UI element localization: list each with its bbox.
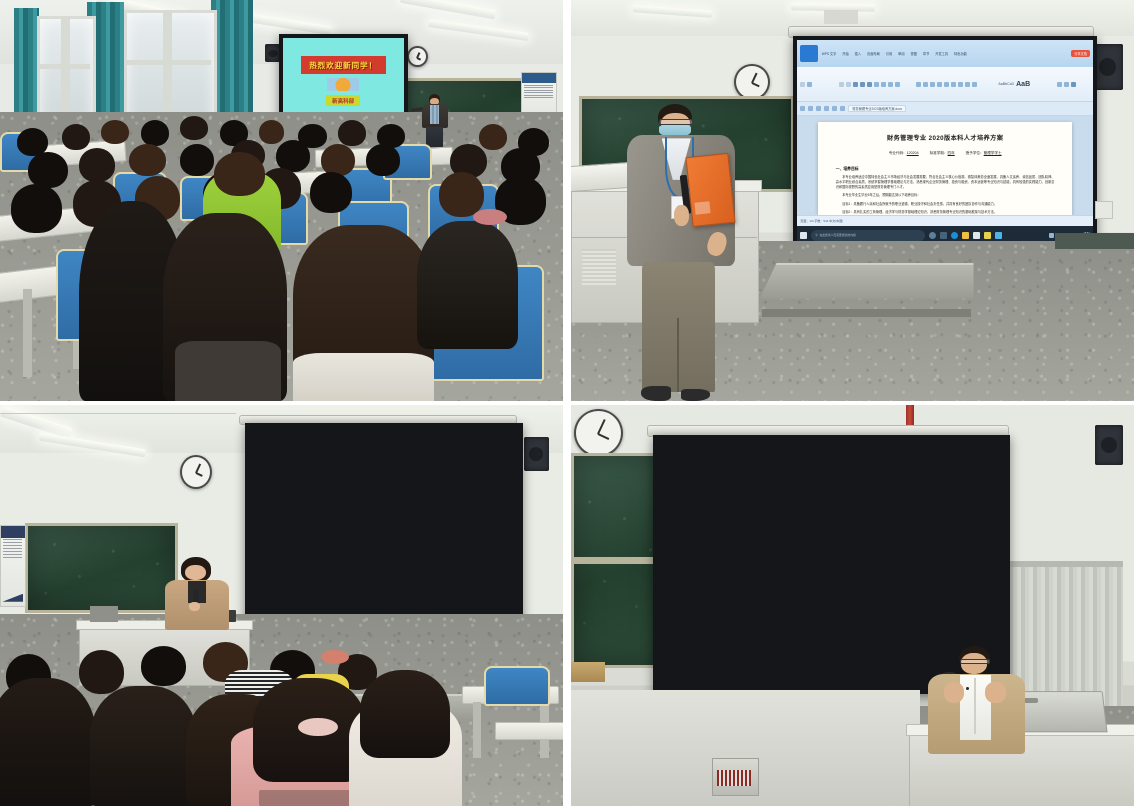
student-foreground-b: [90, 686, 197, 806]
wall-socket: [1095, 201, 1114, 219]
ribbon-tab-view[interactable]: 视图: [909, 51, 919, 56]
wall-speaker: [524, 437, 549, 471]
curtain-rail: [993, 561, 1122, 567]
desk-leg-right-a: [473, 702, 481, 758]
student-head: [180, 144, 214, 176]
student-head: [338, 120, 366, 146]
projection-screen: WPS 文字 开始 插入 页面布局 引用 审阅 视图 章节 开发工具 特色功能 …: [793, 36, 1097, 249]
font-name-box[interactable]: [839, 82, 844, 87]
wall-clock: [734, 64, 770, 100]
ribbon-tab-features[interactable]: 特色功能: [952, 51, 969, 56]
bold-icon[interactable]: [853, 82, 858, 87]
format-brush-icon[interactable]: [807, 82, 812, 87]
field-duration: 标准学制：四年: [930, 151, 955, 156]
desk-right-b: [495, 722, 563, 740]
lecturer-shirt-placket: [974, 678, 976, 734]
underline-icon[interactable]: [867, 82, 872, 87]
student-head: [479, 124, 507, 150]
wall-speaker: [1095, 425, 1123, 465]
projection-screen: 市场营销学 古老 年轻 100年的学科历史 几千年的经验总结: [245, 423, 523, 632]
status-text: 页面：1/4 字数：544 中文(中国): [800, 219, 843, 223]
lecturer: [419, 94, 450, 150]
panel-welcome-assembly: 热烈欢迎新同学！ 新高科部: [0, 0, 563, 401]
student-head: [28, 152, 67, 188]
wps-status-bar: 页面：1/4 字数：544 中文(中国): [797, 215, 1093, 226]
select-icon[interactable]: [1064, 82, 1069, 87]
wps-app-name: WPS 文字: [820, 51, 839, 56]
podium-equipment: [90, 606, 118, 622]
ribbon-group-clipboard: [800, 69, 812, 98]
photo-collage: 热烈欢迎新同学！ 新高科部: [0, 0, 1134, 807]
field-degree: 授予学位：管理学学士: [966, 151, 1002, 156]
superscript-icon[interactable]: [881, 82, 886, 87]
undo-icon[interactable]: [832, 106, 837, 111]
lecturer-hand-right: [985, 682, 1005, 703]
task-view-icon[interactable]: [940, 232, 947, 239]
save-icon[interactable]: [816, 106, 821, 111]
student-foreground-e-hair: [360, 670, 450, 758]
redo-icon[interactable]: [840, 106, 845, 111]
cortana-icon[interactable]: [929, 232, 936, 239]
ribbon-group-editing: [1057, 69, 1076, 98]
document-section-heading: 一、培养目标: [836, 167, 1055, 172]
highlight-icon[interactable]: [888, 82, 893, 87]
student-head: [101, 120, 129, 144]
student-hairband: [473, 209, 507, 225]
document-paragraph: 目标2：具有扎实的工商管理、经济学与财务学基础理论知识，熟悉财务管理专业知识的基…: [836, 210, 1055, 215]
mail-icon[interactable]: [973, 232, 980, 239]
student-foreground-a: [0, 678, 96, 806]
panel-marketing-lecture: 市场营销学 古老 年轻 100年的学科历史 几千年的经验总结: [0, 405, 563, 806]
document-field-row: 专业代码：120204 标准学制：四年 授予学位：管理学学士: [836, 151, 1055, 156]
share-document-button[interactable]: 分享文档: [1071, 50, 1090, 57]
ribbon-tab-start[interactable]: 开始: [840, 51, 850, 56]
lecturer-hand-left: [944, 682, 964, 703]
lecturer: [926, 646, 1027, 754]
document-title: 财务管理专业 2020版本科人才培养方案: [836, 133, 1055, 142]
line-spacing-icon[interactable]: [965, 82, 970, 87]
chalk-marks: [28, 526, 174, 610]
wps-ribbon: AaBbCcD AaB: [797, 67, 1093, 103]
student-foreground-center-shirt: [175, 341, 282, 401]
glasses-icon: [960, 659, 990, 664]
align-right-icon[interactable]: [958, 82, 963, 87]
borders-icon[interactable]: [972, 82, 977, 87]
student-head: [62, 124, 90, 150]
find-replace-icon[interactable]: [1057, 82, 1062, 87]
window-bar-right: [163, 10, 172, 122]
student-head: [79, 650, 124, 694]
trouser-split: [677, 318, 679, 392]
font-color-icon[interactable]: [895, 82, 900, 87]
ribbon-tab-reference[interactable]: 引用: [884, 51, 894, 56]
numbered-list-icon[interactable]: [923, 82, 928, 87]
wall-clock: [574, 409, 623, 457]
electrical-box-label: [717, 770, 751, 786]
align-left-icon[interactable]: [944, 82, 949, 87]
chalkboard: [25, 523, 177, 613]
handshake-icon: [327, 78, 358, 92]
indent-decrease-icon[interactable]: [930, 82, 935, 87]
open-file-tab[interactable]: 财务管理专业2020版培养方案.docx: [848, 105, 906, 112]
taskbar-search-input[interactable]: ⚲ 在此搜索人员需要搜索的内容: [811, 230, 925, 241]
start-button-icon[interactable]: [800, 232, 807, 239]
search-icon[interactable]: [1071, 82, 1076, 87]
wall-baseboard-right: [1055, 233, 1134, 249]
wps-office-window: WPS 文字 开始 插入 页面布局 引用 审阅 视图 章节 开发工具 特色功能 …: [797, 40, 1093, 245]
ribbon-tab-devtools[interactable]: 开发工具: [933, 51, 950, 56]
student-hair-scrunchie: [298, 718, 337, 736]
paste-icon[interactable]: [800, 82, 805, 87]
font-size-box[interactable]: [846, 82, 851, 87]
new-doc-icon[interactable]: [800, 106, 805, 111]
wps-file-tab-bar: 财务管理专业2020版培养方案.docx: [797, 102, 1093, 115]
lecturer-shoe-left: [641, 386, 670, 401]
student-hairband-red: [321, 650, 349, 664]
document-paragraph: 目标1：具备履行人民和社会所赋予的职业道德、职业操守和社会责任感，并具有良好的团…: [836, 202, 1055, 207]
window-curtain-right: [211, 0, 253, 124]
indent-increase-icon[interactable]: [937, 82, 942, 87]
slide-sub-text: 新高科部: [326, 95, 360, 107]
slide-banner-text: 热烈欢迎新同学！: [301, 56, 386, 74]
document-page: 财务管理专业 2020版本科人才培养方案 专业代码：120204 标准学制：四年…: [818, 122, 1072, 215]
panel-curriculum-plan: WPS 文字 开始 插入 页面布局 引用 审阅 视图 章节 开发工具 特色功能 …: [571, 0, 1134, 401]
style-normal-label[interactable]: AaBbCcD: [998, 82, 1014, 86]
ribbon-group-styles: AaBbCcD AaB: [998, 69, 1030, 98]
slide-wps-document: WPS 文字 开始 插入 页面布局 引用 审阅 视图 章节 开发工具 特色功能 …: [797, 40, 1093, 245]
window-curtain-left: [14, 8, 39, 128]
align-center-icon[interactable]: [951, 82, 956, 87]
font-sample-label: AaB: [1016, 81, 1030, 88]
ribbon-tab-section[interactable]: 章节: [921, 51, 931, 56]
desk-leg-1: [23, 289, 32, 377]
stage-riser: [760, 263, 974, 299]
edge-icon[interactable]: [951, 232, 958, 239]
riser-edge-strip: [762, 309, 970, 317]
orange-folder: [685, 153, 735, 227]
wps-logo-icon: [800, 45, 817, 61]
search-placeholder: 在此搜索人员需要搜索的内容: [819, 233, 855, 237]
explorer-icon[interactable]: [962, 232, 969, 239]
student-foreground-right-shirt: [293, 353, 434, 401]
ceiling-beam: [0, 413, 236, 414]
document-paragraph: 本专业培养适应中国特色社会主义市场经济与社会发展需要、符合社会主义核心价值观、德…: [836, 175, 1055, 190]
ribbon-group-font: [839, 69, 900, 98]
tray-chevron-icon[interactable]: [1049, 233, 1054, 238]
lecturer-shirt: [430, 105, 439, 124]
wps-title-bar: WPS 文字 开始 插入 页面布局 引用 审阅 视图 章节 开发工具 特色功能 …: [797, 40, 1093, 67]
student-head: [259, 120, 284, 144]
lightning-icon[interactable]: [984, 232, 991, 239]
student-head: [79, 148, 116, 182]
student-head: [129, 144, 166, 176]
italic-icon[interactable]: [860, 82, 865, 87]
field-major-code: 专业代码：120204: [889, 151, 919, 156]
window-bar-left-h: [37, 64, 90, 69]
lecturer-hand: [189, 602, 200, 611]
student-head: [11, 184, 62, 232]
notice-board: [0, 525, 26, 607]
ribbon-group-paragraph: [916, 69, 977, 98]
lecturer: [624, 104, 737, 401]
search-icon: ⚲: [815, 233, 817, 237]
student-head: [214, 152, 265, 196]
strikethrough-icon[interactable]: [874, 82, 879, 87]
ribbon-tab-review[interactable]: 审阅: [896, 51, 906, 56]
wps-taskbar-icon[interactable]: [995, 232, 1002, 239]
ceiling-duct: [824, 10, 858, 24]
document-canvas[interactable]: 财务管理专业 2020版本科人才培养方案 专业代码：120204 标准学制：四年…: [797, 116, 1093, 215]
podium-vent: [582, 249, 616, 285]
lecturer: [163, 557, 231, 629]
document-paragraph: 本专业毕业生毕业5年之后，预期能达到以下培养目标：: [836, 193, 1055, 198]
folder-label: [695, 201, 711, 214]
wall-ledge-left: [571, 662, 605, 682]
panel-college-overview: 一、学院概况 专业设置 本科 专业 机械设计制造及其自动化 过程装备与控制工程: [571, 405, 1134, 806]
lecturer-shoe-right: [681, 389, 710, 401]
student-head: [141, 646, 186, 686]
window-bar-right-h: [124, 60, 211, 65]
student-foreground-far-right: [417, 221, 518, 349]
lecturer-hand-left: [674, 205, 689, 226]
board-rail: [571, 557, 658, 563]
open-doc-icon[interactable]: [808, 106, 813, 111]
chair-right-far: [484, 666, 550, 706]
student-head: [439, 172, 484, 216]
ribbon-tab-pagelayout[interactable]: 页面布局: [865, 51, 882, 56]
student-head: [141, 120, 169, 146]
student-head: [366, 144, 400, 176]
bullet-list-icon[interactable]: [916, 82, 921, 87]
ribbon-tab-insert[interactable]: 插入: [853, 51, 863, 56]
print-icon[interactable]: [824, 106, 829, 111]
student-head: [310, 172, 352, 212]
student-head: [180, 116, 208, 140]
